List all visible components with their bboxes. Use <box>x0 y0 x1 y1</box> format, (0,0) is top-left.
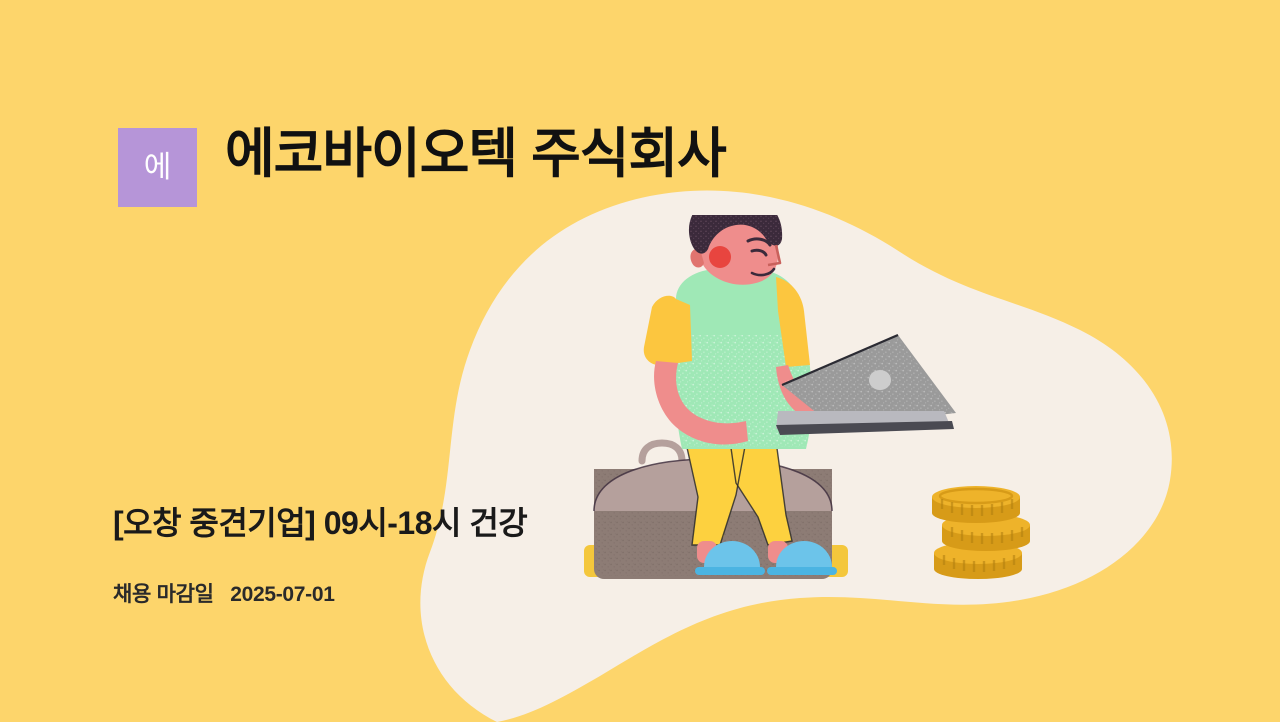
blush <box>709 246 731 268</box>
company-name: 에코바이오텍 주식회사 <box>225 124 726 184</box>
laptop-logo <box>869 370 891 390</box>
card-header: 에 에코바이오텍 주식회사 <box>118 128 726 207</box>
company-logo-initial: 에 <box>144 151 172 184</box>
coin-stack-icon <box>932 486 1030 579</box>
job-posting-card: 에 에코바이오텍 주식회사 [오창 중견기업] 09시-18시 건강 채용 마감… <box>0 0 1280 722</box>
company-logo-badge: 에 <box>118 128 197 207</box>
job-posting-title: [오창 중견기업] 09시-18시 건강 <box>113 498 527 544</box>
application-deadline: 채용 마감일 2025-07-01 <box>113 578 335 608</box>
deadline-label: 채용 마감일 <box>113 583 214 606</box>
illustration-person-with-laptop <box>580 215 1060 605</box>
deadline-value: 2025-07-01 <box>230 583 334 606</box>
